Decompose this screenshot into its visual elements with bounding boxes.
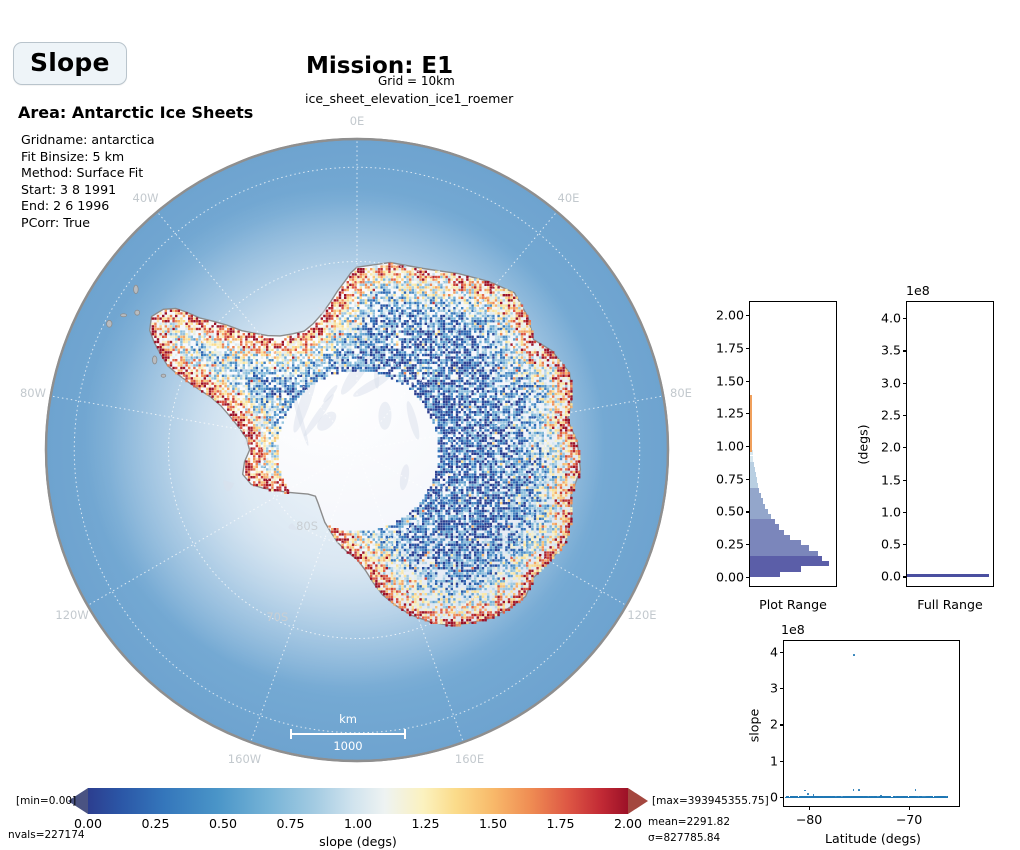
colorbar-gradient[interactable] — [88, 788, 628, 814]
y-tick-label-7: 3.5 — [881, 343, 901, 358]
y-tick-mark — [903, 383, 907, 384]
x-tick-mark — [909, 806, 910, 810]
scale-unit-label: km — [290, 712, 406, 726]
scale-bar-graphic — [290, 729, 406, 738]
y-tick-mark — [903, 350, 907, 351]
y-tick-label-0: 0.00 — [716, 569, 744, 584]
y-tick-label-5: 1.25 — [716, 406, 744, 421]
y-tick-label-2: 0.50 — [716, 504, 744, 519]
colorbar-max-label: [max=393945355.75] — [652, 795, 769, 807]
map-scale-bar: km 1000 — [290, 712, 406, 753]
island-0 — [135, 310, 140, 315]
area-title: Area: Antarctic Ice Sheets — [18, 103, 253, 122]
y-tick-label-3: 3 — [770, 681, 778, 696]
y-tick-mark — [903, 480, 907, 481]
island-4 — [152, 356, 156, 364]
y-tick-label-4: 4 — [770, 644, 778, 659]
y-tick-label-1: 0.5 — [881, 537, 901, 552]
y-tick-label-5: 2.5 — [881, 407, 901, 422]
full-range-y-offset-text: 1e8 — [906, 283, 930, 298]
y-tick-mark — [746, 511, 750, 512]
histogram-bar — [750, 498, 763, 503]
y-tick-mark — [746, 348, 750, 349]
x-tick-label-1: −70 — [896, 812, 923, 827]
full-range-xlabel: Full Range — [866, 597, 1020, 612]
lon-label-160E: 160E — [455, 752, 484, 766]
x-tick-label-0: −80 — [796, 812, 823, 827]
colorbar-tick-4: 1.00 — [344, 816, 372, 831]
map-canvas: 80S70S — [44, 137, 670, 763]
colorbar-tick-labels: 0.000.250.500.751.001.251.501.752.00 — [88, 816, 628, 832]
y-tick-mark — [780, 652, 784, 653]
y-tick-label-4: 1.00 — [716, 438, 744, 453]
colorbar-min-label: [min=0.00] — [16, 795, 76, 807]
y-tick-label-4: 2.0 — [881, 440, 901, 455]
histogram-bar — [750, 566, 801, 571]
histogram-bar — [750, 488, 759, 493]
y-tick-mark — [780, 724, 784, 725]
y-tick-mark — [903, 512, 907, 513]
y-tick-mark — [903, 415, 907, 416]
full-range-histogram-axes[interactable]: 0.00.51.01.52.02.53.03.54.0 — [906, 301, 994, 587]
y-tick-mark — [746, 479, 750, 480]
histogram-bar — [750, 561, 829, 566]
y-tick-mark — [780, 688, 784, 689]
histogram-bar — [750, 504, 765, 509]
histogram-bar — [750, 530, 784, 535]
plot-range-xlabel: Plot Range — [709, 597, 877, 612]
y-tick-label-2: 2 — [770, 717, 778, 732]
colorbar-tick-2: 0.50 — [209, 816, 237, 831]
y-tick-label-0: 0.0 — [881, 569, 901, 584]
histogram-bar — [750, 572, 780, 577]
histogram-bar — [750, 514, 771, 519]
island-2 — [107, 320, 112, 327]
lon-label-80E: 80E — [670, 386, 692, 400]
colorbar-tick-3: 0.75 — [276, 816, 304, 831]
histogram-bar — [750, 524, 779, 529]
slope-badge: Slope — [13, 42, 127, 85]
y-tick-mark — [903, 447, 907, 448]
scale-value-label: 1000 — [290, 739, 406, 753]
colorbar-tick-5: 1.25 — [411, 816, 439, 831]
y-tick-label-1: 0.25 — [716, 537, 744, 552]
y-tick-label-3: 0.75 — [716, 471, 744, 486]
y-tick-label-1: 1 — [770, 753, 778, 768]
slope-latitude-scatter-axes[interactable]: 01234 −80−70 — [783, 640, 960, 807]
lon-label-80W: 80W — [20, 386, 46, 400]
colorbar-tick-6: 1.50 — [479, 816, 507, 831]
y-tick-label-8: 2.00 — [716, 308, 744, 323]
histogram-bar — [750, 519, 775, 524]
y-tick-label-7: 1.75 — [716, 340, 744, 355]
histogram-bar — [750, 545, 809, 550]
colorbar-tick-7: 1.75 — [546, 816, 574, 831]
y-tick-mark — [903, 318, 907, 319]
lon-label-160W: 160W — [228, 752, 261, 766]
histogram-bar — [750, 493, 761, 498]
lon-label-0E: 0E — [350, 114, 365, 128]
histogram-bar — [750, 467, 755, 472]
colorbar-tick-8: 2.00 — [614, 816, 642, 831]
sigma-label: σ=827785.84 — [648, 832, 720, 844]
y-tick-label-2: 1.0 — [881, 504, 901, 519]
lon-label-120E: 120E — [627, 608, 656, 622]
histogram-bar — [750, 472, 756, 477]
histogram-bar — [750, 483, 758, 488]
y-tick-label-0: 0 — [770, 789, 778, 804]
dataset-name-label: ice_sheet_elevation_ice1_roemer — [305, 91, 513, 106]
scatter-xlabel: Latitude (degs) — [788, 831, 958, 846]
histogram-bar — [750, 556, 822, 561]
antarctica-polar-map[interactable]: 80S70S — [44, 137, 670, 763]
histogram-bar — [750, 535, 790, 540]
histogram-bar — [750, 477, 757, 482]
y-tick-mark — [746, 446, 750, 447]
y-tick-mark — [780, 761, 784, 762]
histogram-bar-tail — [750, 395, 752, 453]
plot-range-histogram-axes[interactable]: 0.000.250.500.751.001.251.501.752.00 — [749, 301, 837, 587]
colorbar-axis-label: slope (degs) — [88, 834, 628, 849]
y-tick-label-8: 4.0 — [881, 311, 901, 326]
histogram-bar — [750, 509, 768, 514]
y-tick-label-6: 3.0 — [881, 375, 901, 390]
y-tick-mark — [746, 577, 750, 578]
lon-label-40E: 40E — [558, 191, 580, 205]
y-tick-mark — [746, 413, 750, 414]
x-tick-mark — [809, 806, 810, 810]
lat-label-0: 80S — [296, 519, 318, 533]
scatter-y-offset-text: 1e8 — [781, 622, 805, 637]
scatter-ylabel: slope — [746, 709, 761, 743]
histogram-bar — [750, 456, 753, 461]
y-tick-label-6: 1.50 — [716, 373, 744, 388]
nvals-label: nvals=227174 — [8, 829, 85, 841]
island-3 — [161, 374, 166, 377]
scatter-outlier-point — [853, 654, 855, 656]
y-tick-mark — [746, 315, 750, 316]
histogram-bar — [907, 574, 989, 577]
full-range-ylabel: (degs) — [856, 424, 871, 464]
mean-label: mean=2291.82 — [648, 816, 730, 828]
colorbar-over-arrow — [628, 788, 648, 814]
y-tick-mark — [903, 576, 907, 577]
y-tick-mark — [903, 544, 907, 545]
y-tick-mark — [746, 544, 750, 545]
grid-resolution-label: Grid = 10km — [378, 74, 455, 88]
lon-label-120W: 120W — [55, 608, 88, 622]
island-1 — [121, 314, 127, 317]
lat-label-1: 70S — [266, 610, 288, 624]
histogram-bar — [750, 551, 818, 556]
histogram-bar — [750, 462, 754, 467]
y-tick-mark — [746, 381, 750, 382]
lon-label-40W: 40W — [133, 191, 159, 205]
colorbar-area[interactable]: [min=0.00] [max=393945355.75] 0.000.250.… — [0, 783, 720, 850]
y-tick-label-3: 1.5 — [881, 472, 901, 487]
island-8 — [134, 285, 139, 293]
histogram-bar — [750, 540, 801, 545]
y-tick-mark — [780, 797, 784, 798]
colorbar-tick-1: 0.25 — [141, 816, 169, 831]
